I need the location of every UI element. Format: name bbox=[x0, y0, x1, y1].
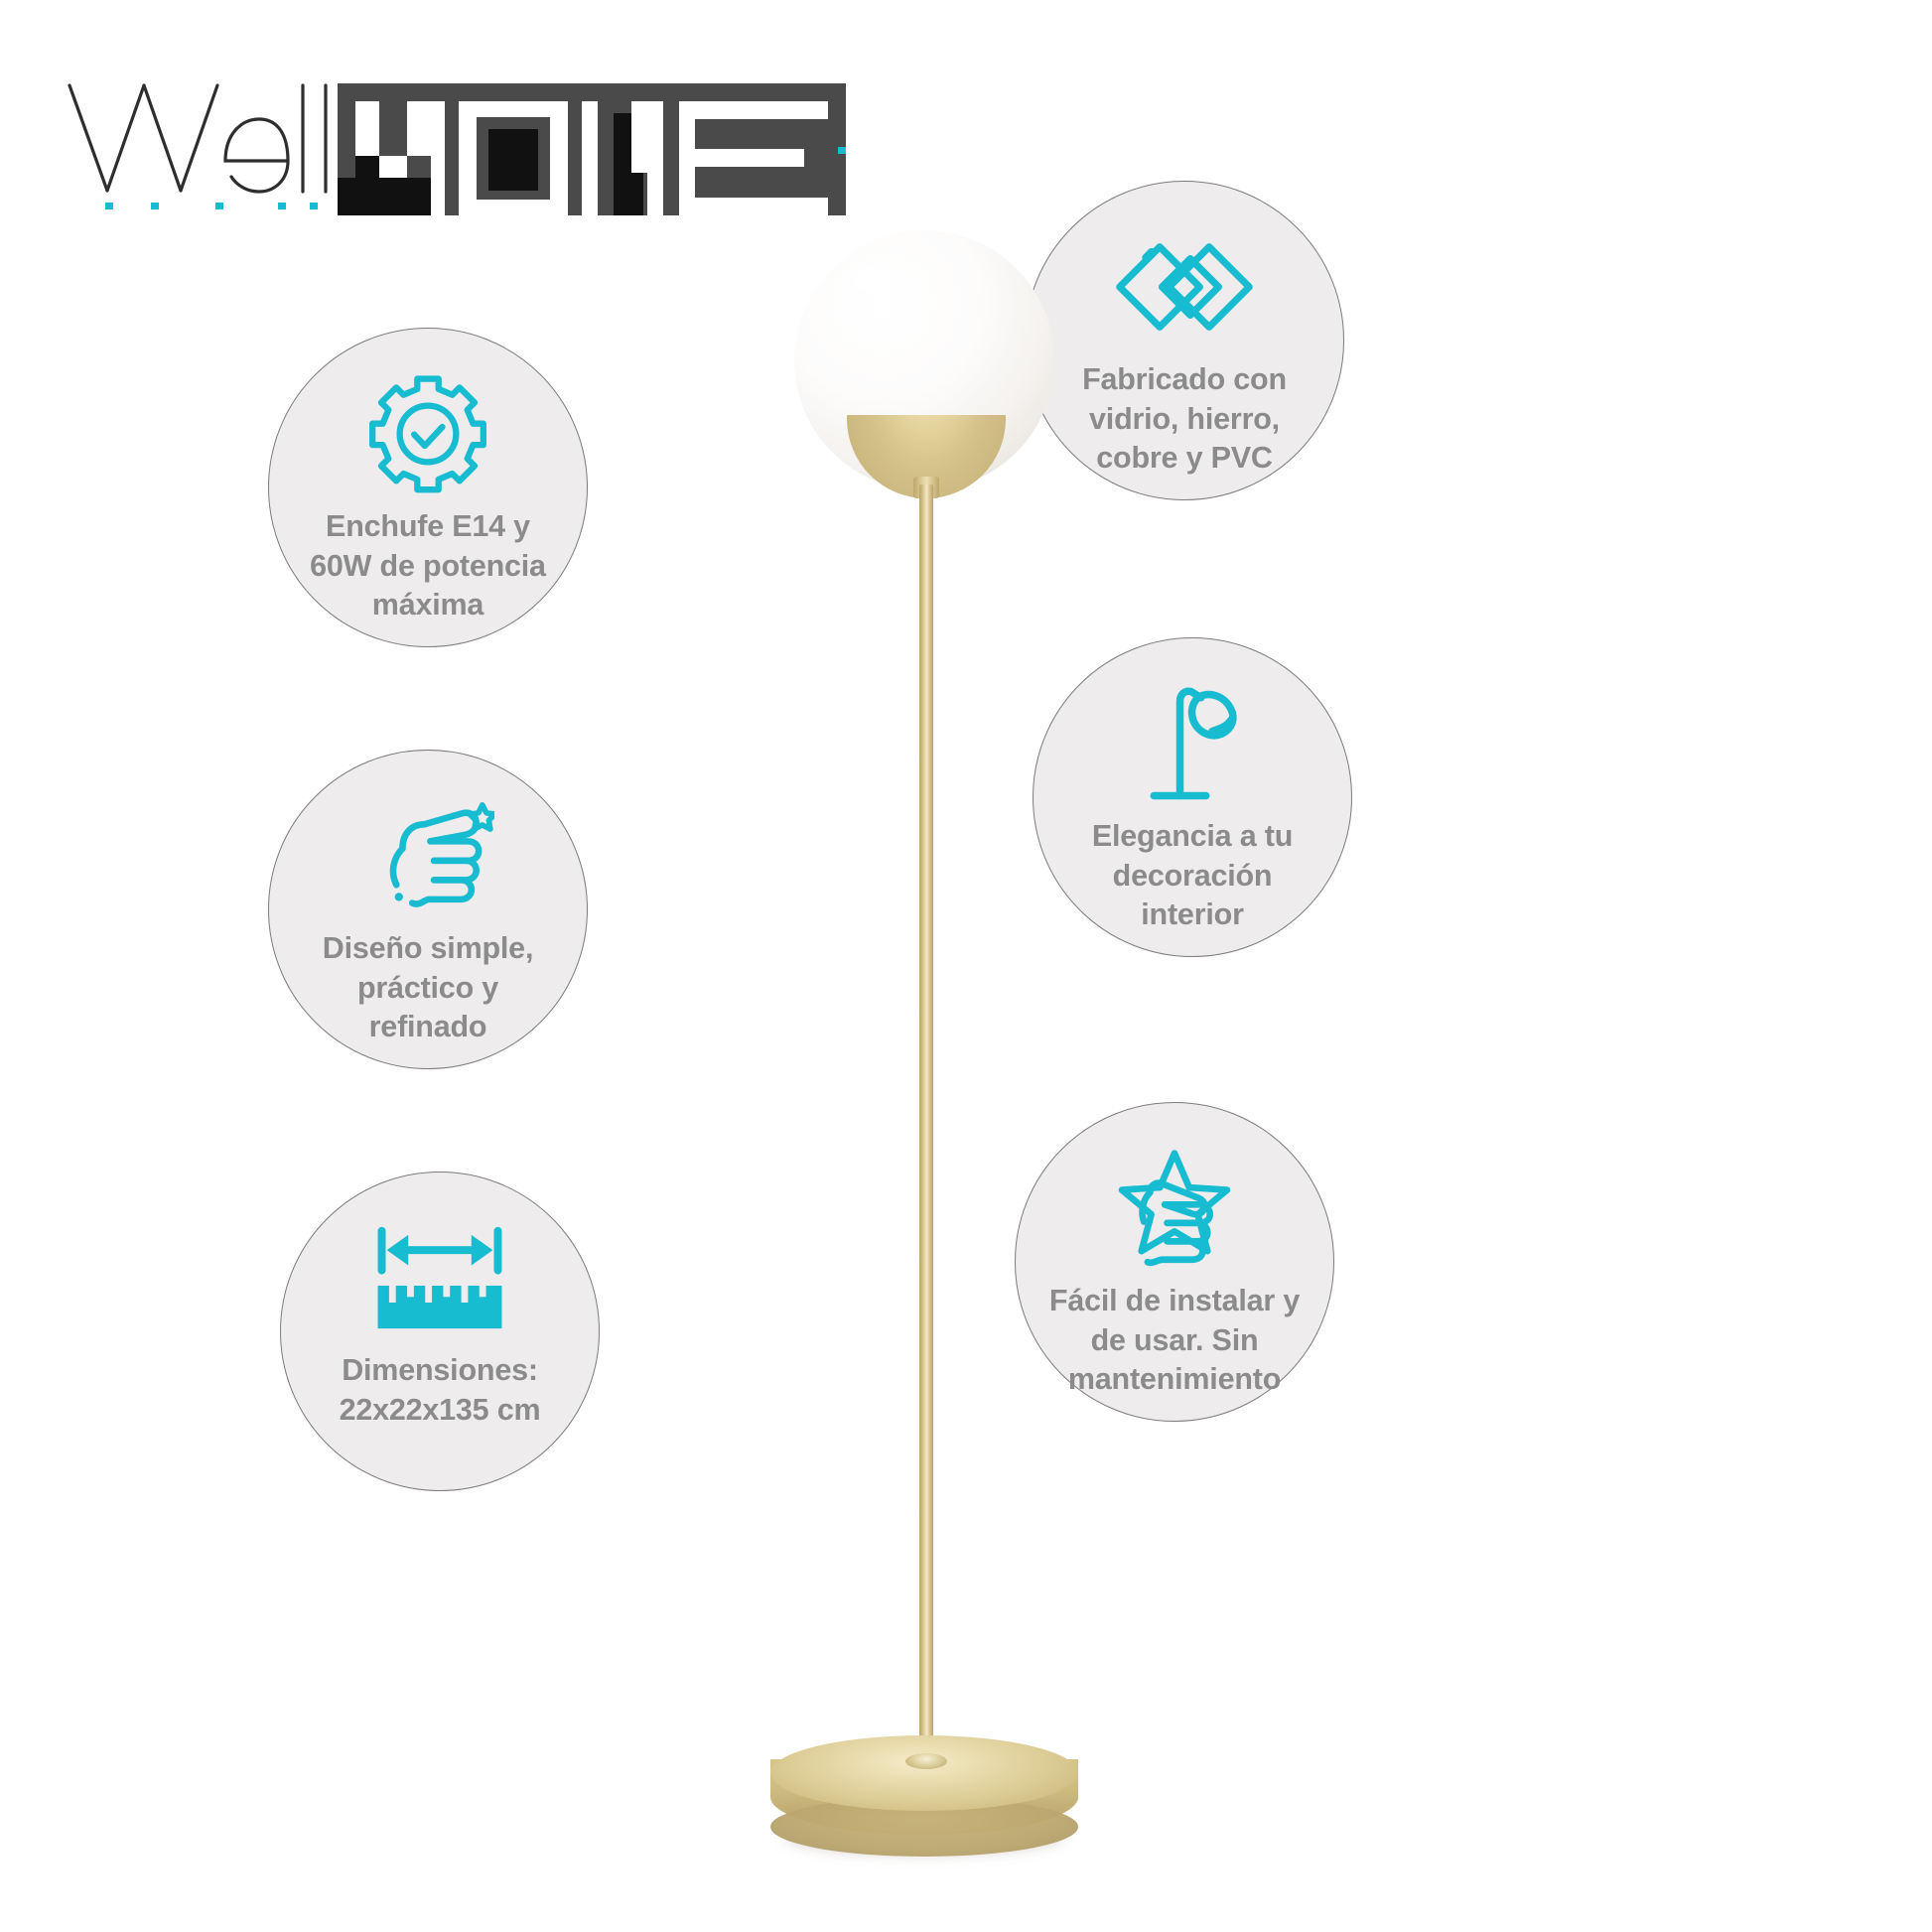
ruler-measure-icon bbox=[370, 1214, 509, 1341]
feature-socket: Enchufe E14 y 60W de potencia máxima bbox=[268, 328, 588, 647]
feature-dimensions: Dimensiones: 22x22x135 cm bbox=[280, 1172, 600, 1491]
sparkle-dot-icon bbox=[395, 893, 403, 900]
star-icon bbox=[470, 805, 494, 829]
product-floor-lamp bbox=[685, 230, 1201, 1878]
feature-caption: Dimensiones: 22x22x135 cm bbox=[311, 1351, 569, 1430]
logo-accent-dots bbox=[105, 203, 318, 209]
lamp-base-top bbox=[770, 1735, 1078, 1811]
logo-trailing-dot bbox=[838, 147, 846, 154]
logo-home-wordmark bbox=[338, 83, 846, 215]
brand-logo bbox=[62, 62, 846, 220]
lamp-base-collar bbox=[905, 1753, 947, 1769]
globe-highlight bbox=[834, 252, 911, 308]
feature-caption: Diseño simple, práctico y refinado bbox=[299, 929, 557, 1047]
feature-caption: Enchufe E14 y 60W de potencia máxima bbox=[299, 507, 557, 625]
lamp-brass-pole bbox=[919, 484, 933, 1773]
pointing-hand-sparkle-icon bbox=[358, 792, 497, 919]
gear-check-icon bbox=[358, 370, 497, 497]
feature-design: Diseño simple, práctico y refinado bbox=[268, 750, 588, 1069]
logo-well-wordmark bbox=[69, 85, 217, 191]
logo-letter-e bbox=[225, 119, 288, 192]
logo-letters-ll bbox=[303, 85, 326, 192]
